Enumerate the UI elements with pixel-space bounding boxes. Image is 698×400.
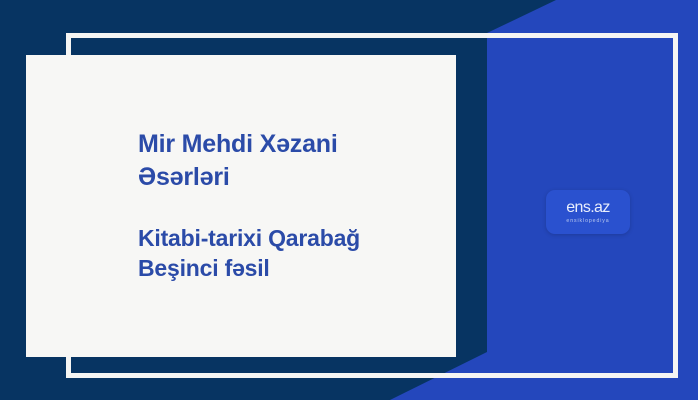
panel-text-stack: Mir Mehdi Xəzani Əsərləri Kitabi-tarixi …: [138, 128, 438, 284]
title-block: Mir Mehdi Xəzani Əsərləri: [138, 128, 438, 193]
subtitle-line-2: Beşinci fəsil: [138, 254, 438, 284]
ens-az-logo-badge[interactable]: ens.az ensiklopediya: [546, 190, 630, 234]
content-panel: Mir Mehdi Xəzani Əsərləri Kitabi-tarixi …: [26, 55, 456, 357]
subtitle-line-1: Kitabi-tarixi Qarabağ: [138, 223, 438, 253]
subtitle-block: Kitabi-tarixi Qarabağ Beşinci fəsil: [138, 223, 438, 284]
logo-wordmark: ens.az: [566, 200, 610, 216]
text-block-spacer: [138, 193, 438, 223]
title-line-2: Əsərləri: [138, 161, 438, 194]
logo-tagline: ensiklopediya: [566, 219, 609, 224]
slide-canvas: Mir Mehdi Xəzani Əsərləri Kitabi-tarixi …: [0, 0, 698, 400]
title-line-1: Mir Mehdi Xəzani: [138, 128, 438, 161]
